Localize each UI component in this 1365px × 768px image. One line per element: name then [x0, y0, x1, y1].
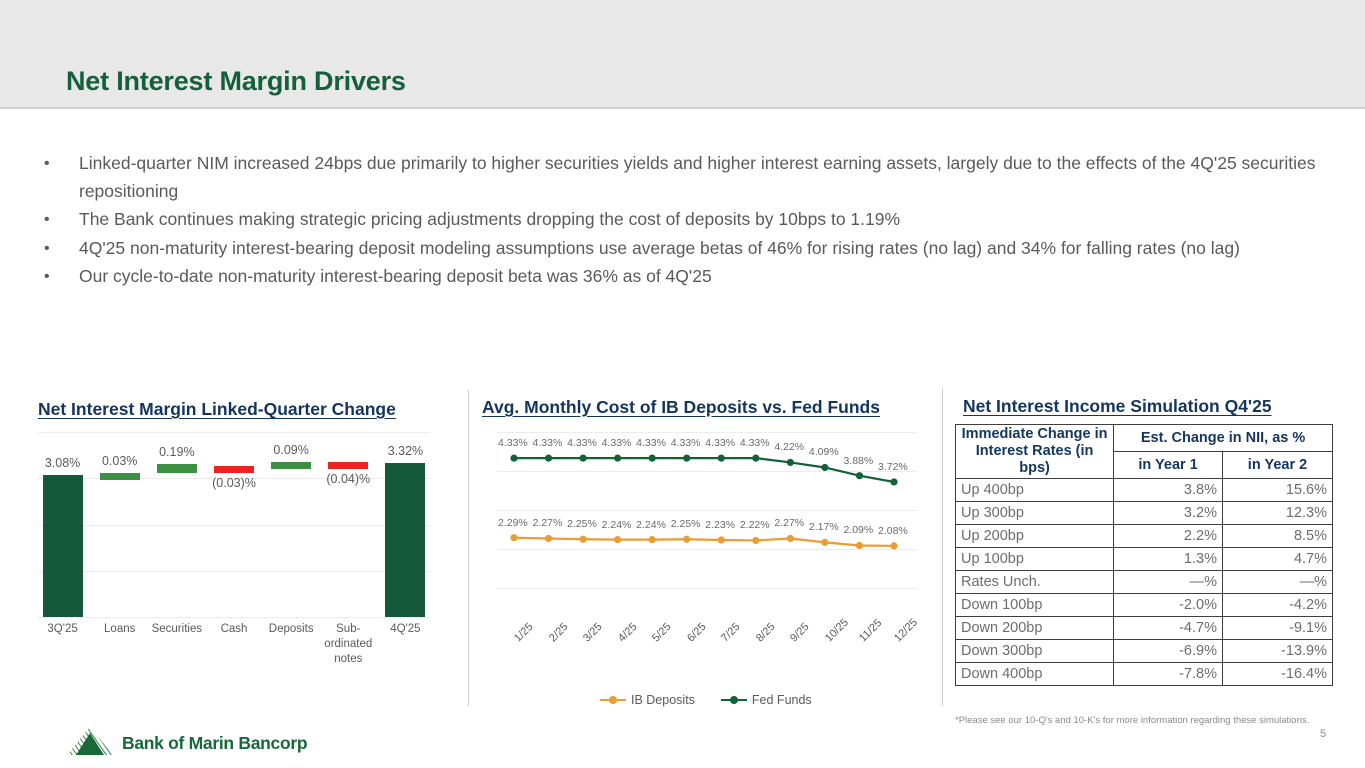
series-point-label: 2.27% — [533, 517, 563, 529]
cell-year1: -7.8% — [1114, 663, 1223, 686]
cell-year2: -16.4% — [1222, 663, 1332, 686]
series-point-label: 3.72% — [878, 461, 908, 473]
legend-item-fed-funds: Fed Funds — [721, 693, 812, 707]
waterfall-chart-title: Net Interest Margin Linked-Quarter Chang… — [38, 399, 396, 420]
bullet-text: 4Q'25 non-maturity interest-bearing depo… — [79, 235, 1328, 263]
col-header-rates: Immediate Change in Interest Rates (in b… — [956, 425, 1114, 479]
series-point-label: 2.24% — [636, 519, 666, 531]
cell-year2: -13.9% — [1222, 640, 1332, 663]
waterfall-category-label: 4Q'25 — [360, 622, 450, 637]
col-header-year1: in Year 1 — [1114, 452, 1223, 479]
series-point-label: 3.88% — [843, 455, 873, 467]
list-item: • Linked-quarter NIM increased 24bps due… — [38, 150, 1328, 205]
bullet-text: Our cycle-to-date non-maturity interest-… — [79, 263, 1328, 291]
series-point — [856, 472, 863, 479]
cell-year2: -4.2% — [1222, 594, 1332, 617]
series-point-label: 4.22% — [774, 441, 804, 453]
series-point — [752, 537, 759, 544]
waterfall-bar — [214, 466, 254, 473]
cell-year1: -2.0% — [1114, 594, 1223, 617]
table-row: Up 100bp1.3%4.7% — [956, 548, 1333, 571]
series-point — [579, 536, 586, 543]
waterfall-bar — [271, 462, 311, 469]
brand-logo: Bank of Marin Bancorp — [66, 726, 307, 761]
series-point-label: 4.33% — [602, 437, 632, 449]
waterfall-chart: 3.08%0.03%0.19%(0.03)%0.09%(0.04)%3.32% — [34, 432, 434, 617]
cell-year1: 3.8% — [1114, 479, 1223, 502]
waterfall-bar — [328, 462, 368, 469]
line-chart-legend: IB Deposits Fed Funds — [600, 690, 930, 710]
table-row: Down 300bp-6.9%-13.9% — [956, 640, 1333, 663]
series-point — [718, 455, 725, 462]
list-item: • The Bank continues making strategic pr… — [38, 206, 1328, 234]
series-point — [614, 455, 621, 462]
cell-rate-scenario: Rates Unch. — [956, 571, 1114, 594]
series-point-label: 4.33% — [705, 437, 735, 449]
cell-year1: -4.7% — [1114, 617, 1223, 640]
series-point — [718, 536, 725, 543]
series-point — [821, 464, 828, 471]
bullet-text: Linked-quarter NIM increased 24bps due p… — [79, 150, 1328, 205]
series-point — [649, 536, 656, 543]
col-header-year2: in Year 2 — [1222, 452, 1332, 479]
line-chart-title: Avg. Monthly Cost of IB Deposits vs. Fed… — [482, 397, 880, 418]
mountain-logo-icon — [66, 726, 114, 761]
logo-wordmark: Bank of Marin Bancorp — [122, 733, 307, 754]
cell-year2: —% — [1222, 571, 1332, 594]
cell-year1: 2.2% — [1114, 525, 1223, 548]
series-point — [683, 536, 690, 543]
cell-rate-scenario: Up 300bp — [956, 502, 1114, 525]
series-point — [649, 455, 656, 462]
table-row: Up 300bp3.2%12.3% — [956, 502, 1333, 525]
waterfall-category-axis: 3Q'25LoansSecuritiesCashDepositsSub-ordi… — [34, 622, 434, 682]
cell-rate-scenario: Up 400bp — [956, 479, 1114, 502]
bullet-text: The Bank continues making strategic pric… — [79, 206, 1328, 234]
table-body: Up 400bp3.8%15.6%Up 300bp3.2%12.3%Up 200… — [956, 479, 1333, 686]
legend-item-ib-deposits: IB Deposits — [600, 693, 695, 707]
series-point — [545, 455, 552, 462]
bullet-marker-icon: • — [38, 206, 79, 234]
waterfall-bar-label: (0.04)% — [309, 472, 387, 486]
list-item: • Our cycle-to-date non-maturity interes… — [38, 263, 1328, 291]
line-chart-x-axis: 1/252/253/254/255/256/257/258/259/2510/2… — [497, 630, 927, 675]
nii-table-title: Net Interest Income Simulation Q4'25 — [963, 396, 1272, 417]
series-point-label: 2.24% — [602, 519, 632, 531]
series-point-label: 2.17% — [809, 521, 839, 533]
series-point — [752, 455, 759, 462]
legend-swatch-icon — [721, 695, 747, 706]
panel-divider-left — [468, 390, 469, 706]
gridline — [38, 525, 430, 526]
series-line — [514, 538, 894, 546]
cell-rate-scenario: Up 100bp — [956, 548, 1114, 571]
col-header-group: Est. Change in NII, as % — [1114, 425, 1333, 452]
waterfall-bar-label: (0.03)% — [195, 476, 273, 490]
series-point — [821, 539, 828, 546]
cell-year1: -6.9% — [1114, 640, 1223, 663]
panel-divider-right — [942, 388, 943, 706]
series-point-label: 4.33% — [671, 437, 701, 449]
series-point-label: 2.22% — [740, 519, 770, 531]
series-point-label: 4.33% — [636, 437, 666, 449]
bullet-marker-icon: • — [38, 235, 79, 263]
bullet-marker-icon: • — [38, 150, 79, 178]
series-point — [545, 535, 552, 542]
table-footnote: *Please see our 10-Q's and 10-K's for mo… — [955, 715, 1309, 726]
series-point — [787, 459, 794, 466]
gridline — [38, 571, 430, 572]
series-point — [890, 542, 897, 549]
legend-label: IB Deposits — [631, 693, 695, 707]
series-point — [510, 534, 517, 541]
cell-year1: 3.2% — [1114, 502, 1223, 525]
series-point-label: 4.09% — [809, 446, 839, 458]
series-point-label: 2.29% — [498, 517, 528, 529]
series-point-label: 2.25% — [567, 518, 597, 530]
cell-rate-scenario: Down 200bp — [956, 617, 1114, 640]
series-point — [856, 542, 863, 549]
waterfall-bar — [385, 463, 425, 617]
waterfall-bar — [43, 475, 83, 617]
page-number: 5 — [1320, 728, 1326, 740]
page-title: Net Interest Margin Drivers — [66, 66, 406, 97]
cell-rate-scenario: Down 300bp — [956, 640, 1114, 663]
series-point-label: 2.27% — [774, 517, 804, 529]
table-head: Immediate Change in Interest Rates (in b… — [956, 425, 1333, 479]
cell-year2: 8.5% — [1222, 525, 1332, 548]
cell-rate-scenario: Down 100bp — [956, 594, 1114, 617]
series-point-label: 4.33% — [533, 437, 563, 449]
series-point — [890, 478, 897, 485]
series-point — [614, 536, 621, 543]
header-divider — [0, 107, 1365, 109]
series-point-label: 4.33% — [498, 437, 528, 449]
waterfall-bar — [100, 473, 140, 480]
list-item: • 4Q'25 non-maturity interest-bearing de… — [38, 235, 1328, 263]
series-line — [514, 458, 894, 482]
cell-year1: —% — [1114, 571, 1223, 594]
bullet-list: • Linked-quarter NIM increased 24bps due… — [38, 150, 1328, 292]
cell-year2: 4.7% — [1222, 548, 1332, 571]
waterfall-bar-label: 0.19% — [138, 445, 216, 459]
series-point-label: 2.08% — [878, 525, 908, 537]
cell-rate-scenario: Down 400bp — [956, 663, 1114, 686]
gridline — [38, 617, 430, 618]
cell-rate-scenario: Up 200bp — [956, 525, 1114, 548]
waterfall-bar-label: 0.09% — [252, 443, 330, 457]
bullet-marker-icon: • — [38, 263, 79, 291]
series-point-label: 4.33% — [740, 437, 770, 449]
cell-year2: -9.1% — [1222, 617, 1332, 640]
waterfall-bar — [157, 464, 197, 473]
series-point-label: 4.33% — [567, 437, 597, 449]
waterfall-bar-label: 3.32% — [366, 444, 444, 458]
table-row: Down 100bp-2.0%-4.2% — [956, 594, 1333, 617]
cell-year2: 15.6% — [1222, 479, 1332, 502]
series-point — [787, 535, 794, 542]
legend-swatch-icon — [600, 695, 626, 706]
cell-year1: 1.3% — [1114, 548, 1223, 571]
gridline — [38, 432, 430, 433]
series-point — [579, 455, 586, 462]
table-row: Rates Unch.—%—% — [956, 571, 1333, 594]
nii-simulation-table: Immediate Change in Interest Rates (in b… — [955, 424, 1333, 686]
series-point — [683, 455, 690, 462]
series-point-label: 2.09% — [843, 524, 873, 536]
table-row: Down 400bp-7.8%-16.4% — [956, 663, 1333, 686]
table-row: Up 200bp2.2%8.5% — [956, 525, 1333, 548]
table-header-row-1: Immediate Change in Interest Rates (in b… — [956, 425, 1333, 452]
table-row: Up 400bp3.8%15.6% — [956, 479, 1333, 502]
line-chart: 2.29%2.27%2.25%2.24%2.24%2.25%2.23%2.22%… — [497, 432, 917, 627]
table-row: Down 200bp-4.7%-9.1% — [956, 617, 1333, 640]
series-point — [510, 455, 517, 462]
cell-year2: 12.3% — [1222, 502, 1332, 525]
legend-label: Fed Funds — [752, 693, 812, 707]
series-point-label: 2.23% — [705, 519, 735, 531]
series-point-label: 2.25% — [671, 518, 701, 530]
